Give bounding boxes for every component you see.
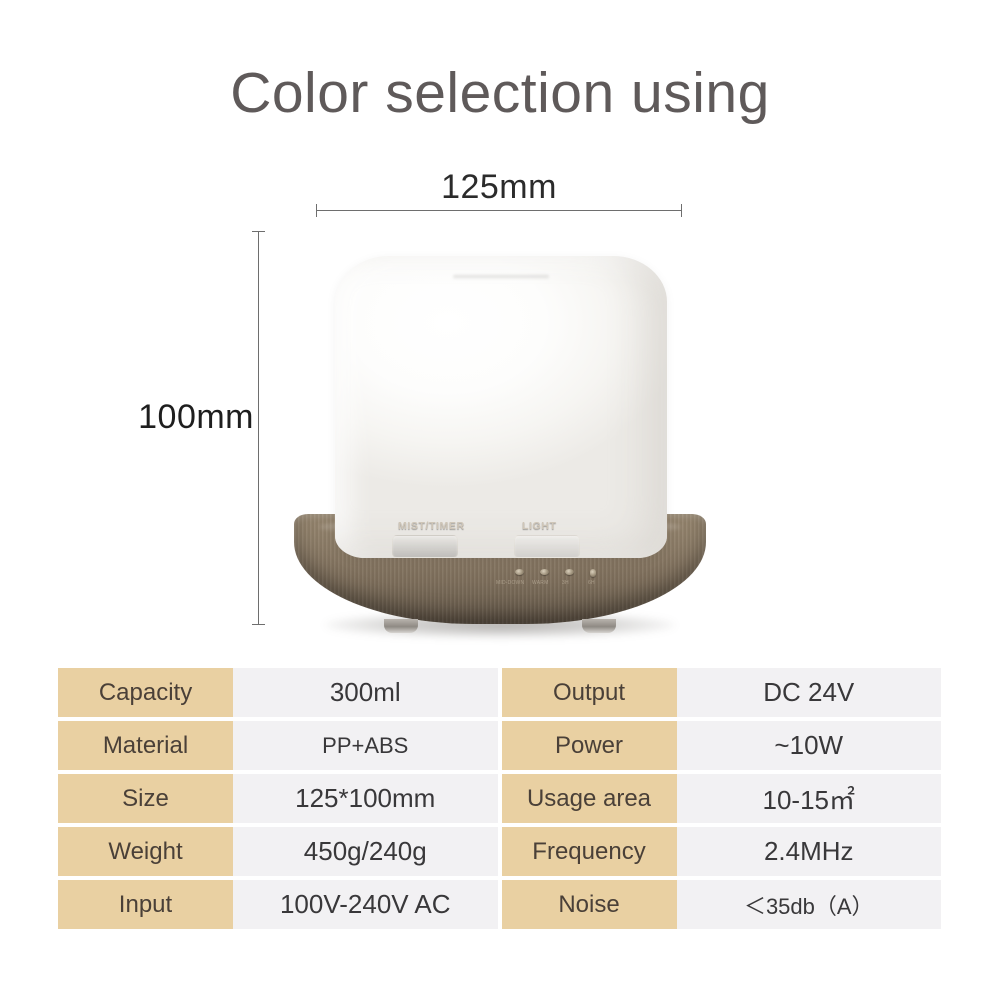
spec-label-frequency: Frequency	[502, 827, 677, 876]
table-row: Input 100V-240V AC Noise ＜35db（A）	[58, 880, 945, 929]
page-title: Color selection using	[0, 62, 1000, 125]
mist-timer-button[interactable]	[392, 535, 458, 558]
indicator-label-2: WARM	[532, 580, 548, 586]
height-dimension-label: 100mm	[104, 398, 254, 437]
height-dimension-line	[258, 231, 259, 625]
product-foot-right	[582, 619, 616, 633]
spec-value-power: ~10W	[677, 721, 942, 770]
spec-value-size: 125*100mm	[233, 774, 498, 823]
product-foot-left	[384, 619, 418, 633]
indicator-led-4	[590, 569, 596, 577]
spec-label-size: Size	[58, 774, 233, 823]
spec-label-capacity: Capacity	[58, 668, 233, 717]
spec-value-noise: ＜35db（A）	[677, 880, 942, 929]
spec-value-usage-area: 10-15㎡	[677, 774, 942, 823]
spec-label-noise: Noise	[502, 880, 677, 929]
width-dimension-line	[316, 210, 682, 211]
table-row: Size 125*100mm Usage area 10-15㎡	[58, 774, 945, 823]
spec-label-weight: Weight	[58, 827, 233, 876]
spec-label-usage-area: Usage area	[502, 774, 677, 823]
spec-label-material: Material	[58, 721, 233, 770]
table-row: Weight 450g/240g Frequency 2.4MHz	[58, 827, 945, 876]
product-control-panel: MIST/TIMER LIGHT MID-DOWN WARM 3H 6H	[370, 520, 630, 606]
spec-label-output: Output	[502, 668, 677, 717]
spec-value-material: PP+ABS	[233, 721, 498, 770]
width-dimension-label: 125mm	[316, 168, 682, 207]
indicator-led-2	[540, 569, 549, 575]
product-image: MIST/TIMER LIGHT MID-DOWN WARM 3H 6H	[280, 250, 720, 640]
spec-label-power: Power	[502, 721, 677, 770]
mist-outlet-icon	[453, 275, 549, 279]
specification-table: Capacity 300ml Output DC 24V Material PP…	[58, 668, 945, 929]
spec-value-frequency: 2.4MHz	[677, 827, 942, 876]
table-row: Material PP+ABS Power ~10W	[58, 721, 945, 770]
spec-value-weight: 450g/240g	[233, 827, 498, 876]
product-diffuser-dome	[335, 256, 667, 558]
indicator-led-3	[565, 569, 574, 575]
spec-value-input: 100V-240V AC	[233, 880, 498, 929]
mist-timer-button-label: MIST/TIMER	[398, 520, 465, 532]
indicator-label-1: MID-DOWN	[496, 580, 524, 586]
spec-value-output: DC 24V	[677, 668, 942, 717]
light-button[interactable]	[514, 535, 580, 558]
light-button-label: LIGHT	[522, 520, 557, 532]
table-row: Capacity 300ml Output DC 24V	[58, 668, 945, 717]
indicator-led-1	[515, 569, 524, 575]
spec-label-input: Input	[58, 880, 233, 929]
indicator-label-4: 6H	[588, 580, 595, 586]
spec-value-capacity: 300ml	[233, 668, 498, 717]
indicator-label-3: 3H	[562, 580, 569, 586]
